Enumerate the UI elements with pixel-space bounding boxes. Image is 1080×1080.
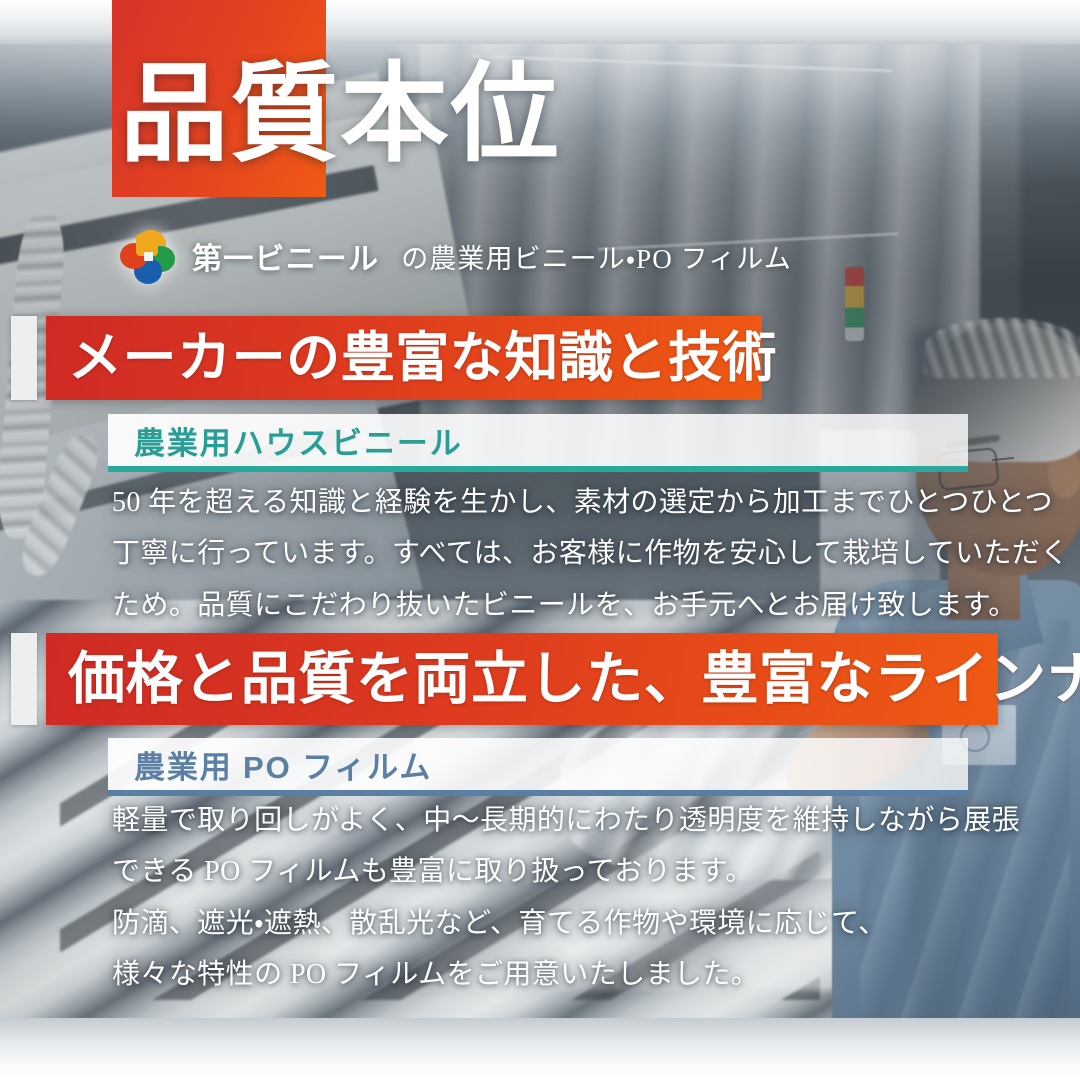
- section-2-body-line: できる PO フィルムも豊富に取り扱っております。: [112, 849, 962, 894]
- dai-ichi-vinyl-flower-logo-icon: [118, 228, 176, 284]
- brand-tagline: の農業用ビニール・PO フィルム: [401, 237, 792, 276]
- section-2-accent-tab: [11, 633, 37, 725]
- section-2-body-line: 様々な特性の PO フィルムをご用意いたしました。: [112, 952, 962, 997]
- section-1-body-line: 50 年を超える知識と経験を生かし、素材の選定から加工までひとつひとつ: [112, 480, 962, 525]
- section-1-subheading-text: 農業用ハウスビニール: [134, 418, 463, 463]
- banner-stage: 品質本位 第一ビニール の農業用ビニール・PO フィルム メーカーの豊富な知識と…: [0, 0, 1080, 1080]
- section-1-subheading-band: 農業用ハウスビニール: [108, 414, 968, 472]
- section-1-body-copy: 50 年を超える知識と経験を生かし、素材の選定から加工までひとつひとつ 丁寧に行…: [112, 480, 962, 634]
- section-2-subheading-text: 農業用 PO フィルム: [134, 742, 432, 787]
- banner-content: 品質本位 第一ビニール の農業用ビニール・PO フィルム メーカーの豊富な知識と…: [0, 0, 1080, 1080]
- section-1-body-line: ため。品質にこだわり抜いたビニールを、お手元へとお届け致します。: [112, 583, 962, 628]
- brand-name: 第一ビニール: [192, 234, 379, 278]
- section-2-subheading-band: 農業用 PO フィルム: [108, 738, 968, 796]
- section-2-body-copy: 軽量で取り回しがよく、中〜長期的にわたり透明度を維持しながら展張 できる PO …: [112, 798, 962, 1003]
- page-title: 品質本位: [120, 62, 820, 170]
- section-2-body-line: 防滴、遮光・遮熱、散乱光など、育てる作物や環境に応じて、: [112, 901, 962, 946]
- section-2-headline-bar: 価格と品質を両立した、豊富なラインナップ: [46, 633, 998, 725]
- section-1-body-line: 丁寧に行っています。すべては、お客様に作物を安心して栽培していただく: [112, 531, 962, 576]
- section-2-body-line: 軽量で取り回しがよく、中〜長期的にわたり透明度を維持しながら展張: [112, 798, 962, 843]
- section-2-headline-text: 価格と品質を両立した、豊富なラインナップ: [68, 651, 1080, 708]
- section-1-accent-tab: [11, 316, 37, 400]
- section-1-headline-bar: メーカーの豊富な知識と技術: [46, 316, 762, 400]
- brand-row: 第一ビニール の農業用ビニール・PO フィルム: [118, 228, 792, 284]
- section-1-headline-text: メーカーの豊富な知識と技術: [68, 331, 777, 385]
